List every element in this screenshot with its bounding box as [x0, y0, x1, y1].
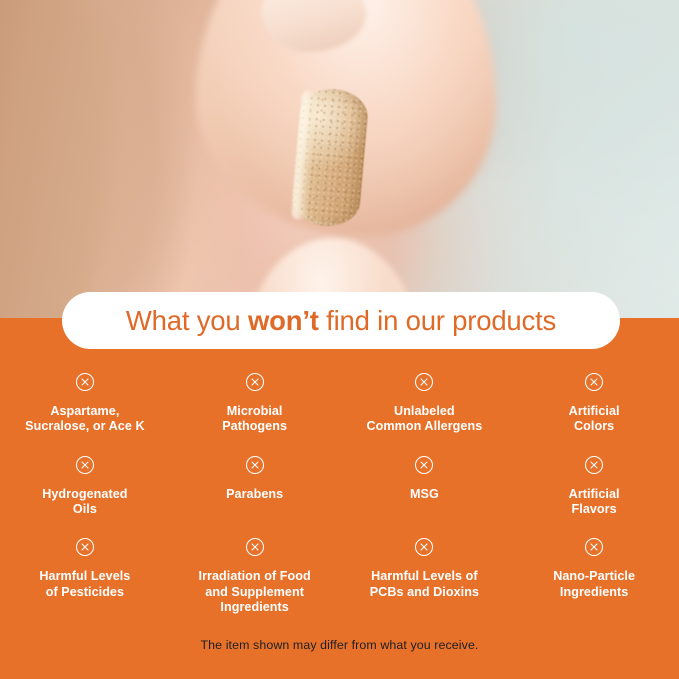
headline-part-after: find in our products [319, 305, 556, 336]
hero-photo [0, 0, 679, 318]
claim-label: Unlabeled Common Allergens [366, 404, 482, 435]
tablet-icon [290, 86, 370, 228]
claim-label: Hydrogenated Oils [42, 487, 127, 518]
claim-item: Parabens [170, 455, 340, 518]
circle-x-icon [414, 372, 434, 392]
circle-x-icon [414, 537, 434, 557]
disclaimer-text: The item shown may differ from what you … [0, 638, 679, 652]
claim-item: Unlabeled Common Allergens [340, 372, 510, 435]
claim-item: MSG [340, 455, 510, 518]
product-claims-infographic: What you won’t find in our products Aspa… [0, 0, 679, 679]
claim-label: Harmful Levels of Pesticides [39, 569, 130, 600]
claim-item: Nano-Particle Ingredients [509, 537, 679, 615]
claim-item: Microbial Pathogens [170, 372, 340, 435]
claim-label: MSG [410, 487, 439, 502]
headline-part-emphasis: won’t [248, 305, 319, 336]
headline-banner: What you won’t find in our products [62, 292, 620, 349]
claim-item: Hydrogenated Oils [0, 455, 170, 518]
circle-x-icon [245, 455, 265, 475]
claim-label: Aspartame, Sucralose, or Ace K [25, 404, 144, 435]
circle-x-icon [584, 455, 604, 475]
claim-item: Harmful Levels of Pesticides [0, 537, 170, 615]
circle-x-icon [245, 372, 265, 392]
claim-item: Artificial Flavors [509, 455, 679, 518]
claim-item: Irradiation of Food and Supplement Ingre… [170, 537, 340, 615]
circle-x-icon [414, 455, 434, 475]
claim-label: Microbial Pathogens [222, 404, 287, 435]
claim-label: Artificial Flavors [569, 487, 620, 518]
circle-x-icon [75, 455, 95, 475]
claims-grid: Aspartame, Sucralose, or Ace K Microbial… [0, 372, 679, 616]
claim-label: Parabens [226, 487, 283, 502]
circle-x-icon [584, 537, 604, 557]
claim-item: Aspartame, Sucralose, or Ace K [0, 372, 170, 435]
claim-item: Artificial Colors [509, 372, 679, 435]
headline-part-before: What you [126, 305, 248, 336]
claim-item: Harmful Levels of PCBs and Dioxins [340, 537, 510, 615]
circle-x-icon [75, 372, 95, 392]
claim-label: Nano-Particle Ingredients [553, 569, 635, 600]
claim-label: Irradiation of Food and Supplement Ingre… [199, 569, 311, 615]
claim-label: Harmful Levels of PCBs and Dioxins [370, 569, 479, 600]
circle-x-icon [245, 537, 265, 557]
claim-label: Artificial Colors [569, 404, 620, 435]
headline-text: What you won’t find in our products [126, 307, 556, 335]
circle-x-icon [75, 537, 95, 557]
circle-x-icon [584, 372, 604, 392]
